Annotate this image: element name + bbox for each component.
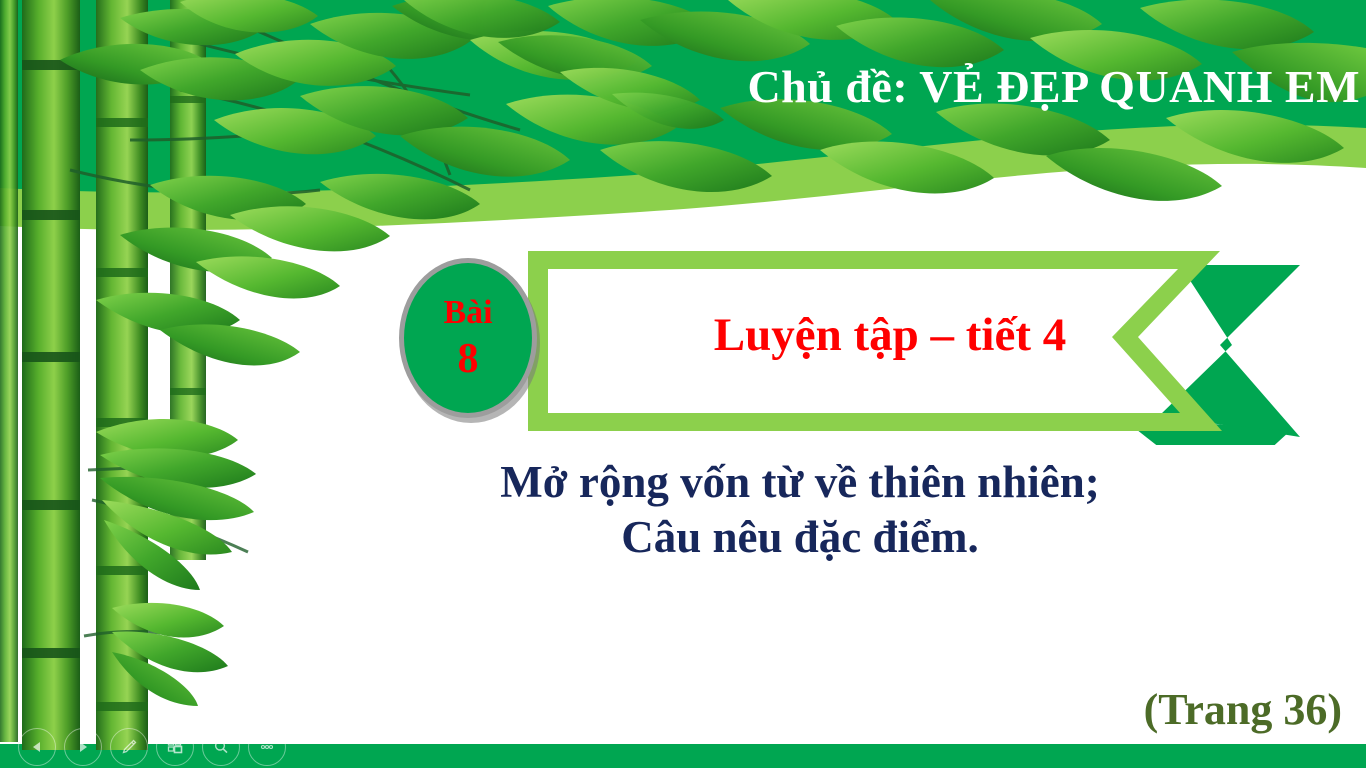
ribbon-label-area: Luyện tập – tiết 4 [520, 245, 1220, 420]
badge-label: Bài [443, 296, 492, 330]
pen-tool-button[interactable] [110, 728, 148, 766]
ellipsis-icon [257, 737, 277, 757]
lesson-number-badge: Bài 8 [399, 258, 537, 418]
presentation-control-bar [18, 727, 286, 767]
slide-grid-button[interactable] [156, 728, 194, 766]
magnifier-icon [211, 737, 231, 757]
slide-header-title: Chủ đề: VẺ ĐẸP QUANH EM [600, 63, 1360, 111]
triangle-right-icon [75, 739, 91, 755]
badge-number: 8 [458, 338, 479, 380]
slide-subtitle: Mở rộng vốn từ về thiên nhiên; Câu nêu đ… [300, 455, 1300, 565]
next-slide-button[interactable] [64, 728, 102, 766]
pen-icon [119, 737, 139, 757]
subtitle-line-1: Mở rộng vốn từ về thiên nhiên; [300, 455, 1300, 510]
page-reference: (Trang 36) [1144, 684, 1342, 735]
subtitle-line-2: Câu nêu đặc điểm. [300, 510, 1300, 565]
previous-slide-button[interactable] [18, 728, 56, 766]
grid-icon [165, 737, 185, 757]
more-options-button[interactable] [248, 728, 286, 766]
lesson-title-text: Luyện tập – tiết 4 [714, 308, 1067, 362]
zoom-in-button[interactable] [202, 728, 240, 766]
lesson-title-ribbon: Luyện tập – tiết 4 [520, 245, 1300, 445]
presentation-slide: Chủ đề: VẺ ĐẸP QUANH EM Luyện tập – tiết… [0, 0, 1366, 768]
badge-text-group: Bài 8 [399, 258, 537, 418]
triangle-left-icon [29, 739, 45, 755]
